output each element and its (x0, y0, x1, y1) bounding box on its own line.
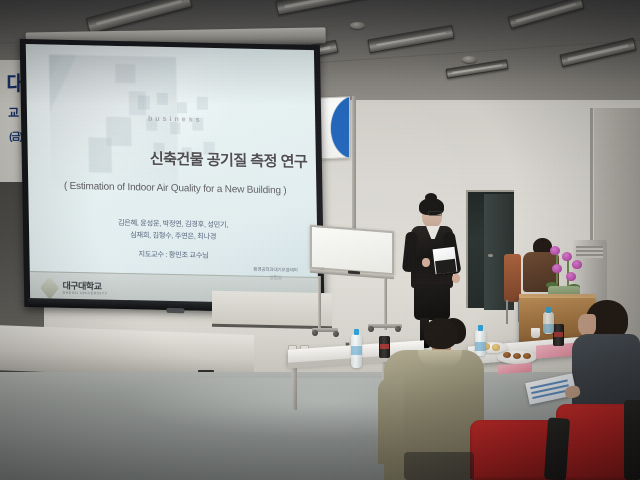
orchid-bloom (550, 246, 560, 255)
smoke-detector-icon (350, 22, 365, 29)
logo-text-english: DAEGU UNIVERSITY (63, 291, 108, 296)
food-item (523, 353, 531, 359)
presenter-notes (433, 247, 458, 274)
orchid-bloom (566, 272, 576, 281)
ceiling-light-fixture (508, 0, 585, 29)
whiteboard-caster-icon (333, 331, 339, 337)
screen-frame: business 신축건물 공기질 측정 연구 ( Estimation of … (20, 39, 325, 313)
seat-armrest (624, 400, 640, 480)
ceiling-light-fixture (275, 0, 368, 16)
audience-collar (418, 350, 462, 366)
university-logo: 대구대학교 DAEGU UNIVERSITY (41, 280, 107, 296)
orchid-bloom (572, 260, 582, 269)
whiteboard-caster-icon (368, 326, 374, 332)
paper-cup[interactable] (531, 328, 540, 338)
screen-pull-handle[interactable] (166, 308, 184, 313)
presentation-slide: business 신축건물 공기질 측정 연구 ( Estimation of … (26, 44, 319, 305)
food-item (492, 344, 500, 351)
whiteboard-caster-icon (312, 330, 318, 336)
smoke-detector-icon (462, 56, 477, 63)
slide-subtitle: ( Estimation of Indoor Air Quality for a… (43, 181, 308, 198)
whiteboard-surface (310, 225, 394, 276)
presenter-hand-left (422, 258, 430, 267)
photo-scene: 대 교 . (금) 발표회 표회 구대학교 환경공학과 (0, 0, 640, 480)
presenter-hand-right (452, 274, 460, 283)
presenter-skirt (414, 284, 450, 320)
door-knob-icon (488, 254, 493, 257)
slide-watermark: business (148, 115, 203, 123)
ceiling-light-fixture (446, 59, 509, 79)
food-item (503, 352, 511, 358)
projection-screen: business 신축건물 공기질 측정 연구 ( Estimation of … (20, 27, 331, 312)
reader-face (578, 314, 596, 336)
slide-authors: 김은혜, 윤성운, 박정연, 김경후, 성민기, 심재희, 김형수, 주연은, … (58, 215, 289, 245)
orchid-bloom (562, 252, 572, 261)
seat-shadow (404, 452, 474, 480)
banner-support-pole (352, 96, 356, 246)
audience-head (424, 318, 458, 349)
beverage-can[interactable] (553, 324, 564, 346)
seat-armrest (544, 417, 570, 480)
screen-surface: business 신축건물 공기질 측정 연구 ( Estimation of … (26, 44, 319, 305)
food-item (513, 353, 521, 359)
whiteboard-leg (318, 276, 321, 332)
chair-leg (506, 300, 508, 324)
ceiling-light-fixture (367, 25, 454, 54)
glasses-icon (428, 211, 442, 216)
slide-advisor: 지도교수 : 황민조 교수님 (58, 247, 289, 262)
water-bottle[interactable] (543, 312, 554, 334)
water-bottle[interactable] (351, 334, 362, 368)
orchid-bloom (552, 264, 562, 273)
lab-line-1: 환경공학과대기오염제어 (253, 266, 297, 274)
audience-arm (378, 378, 404, 464)
